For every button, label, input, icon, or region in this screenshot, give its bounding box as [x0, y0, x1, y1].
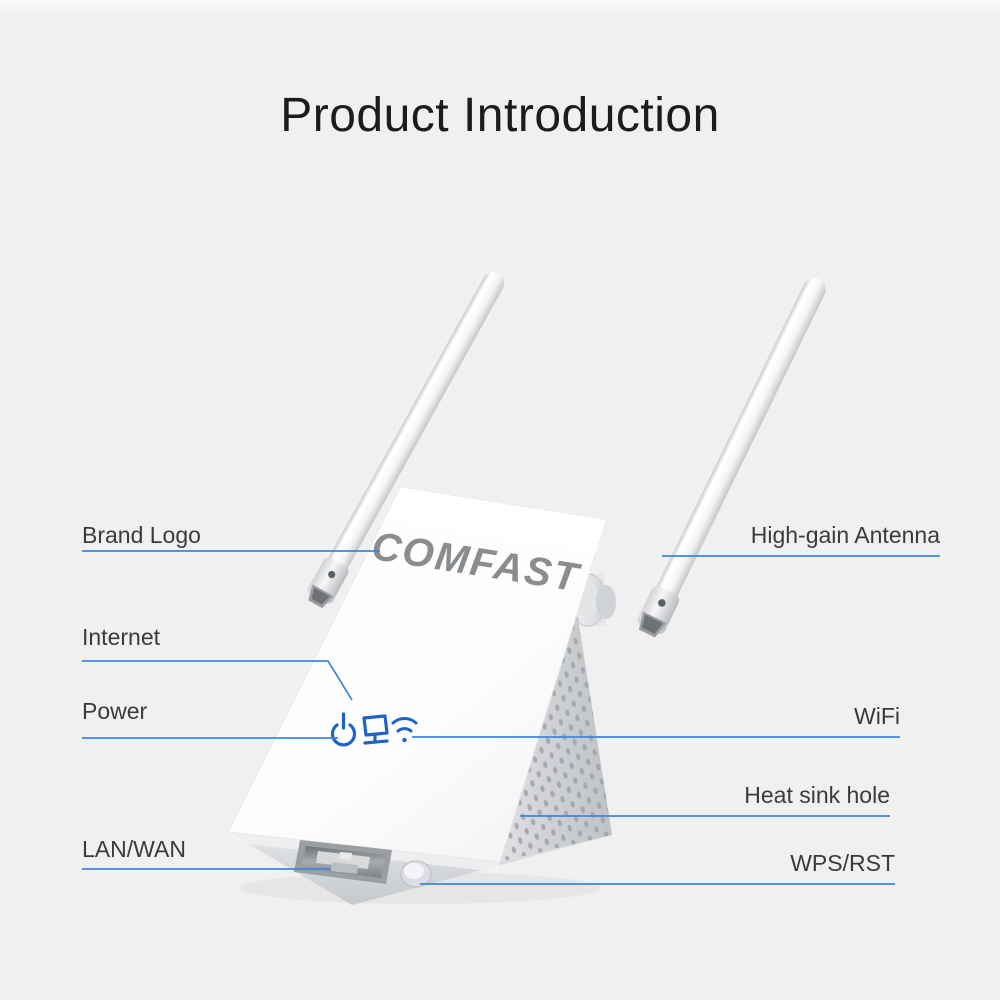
callout-label-high-gain-antenna: High-gain Antenna [751, 522, 940, 549]
callout-label-brand-logo: Brand Logo [82, 522, 201, 549]
product-infographic: Product Introduction [0, 0, 1000, 1000]
callout-label-power: Power [82, 698, 147, 725]
callout-label-internet: Internet [82, 624, 160, 651]
device-body: COMFAST [228, 487, 630, 905]
callout-label-wifi: WiFi [854, 703, 900, 730]
wps-button [401, 861, 431, 887]
antenna-right [569, 273, 833, 640]
callout-label-wps-rst: WPS/RST [790, 850, 895, 877]
callout-label-heat-sink-hole: Heat sink hole [744, 782, 890, 809]
callout-label-lan-wan: LAN/WAN [82, 836, 186, 863]
